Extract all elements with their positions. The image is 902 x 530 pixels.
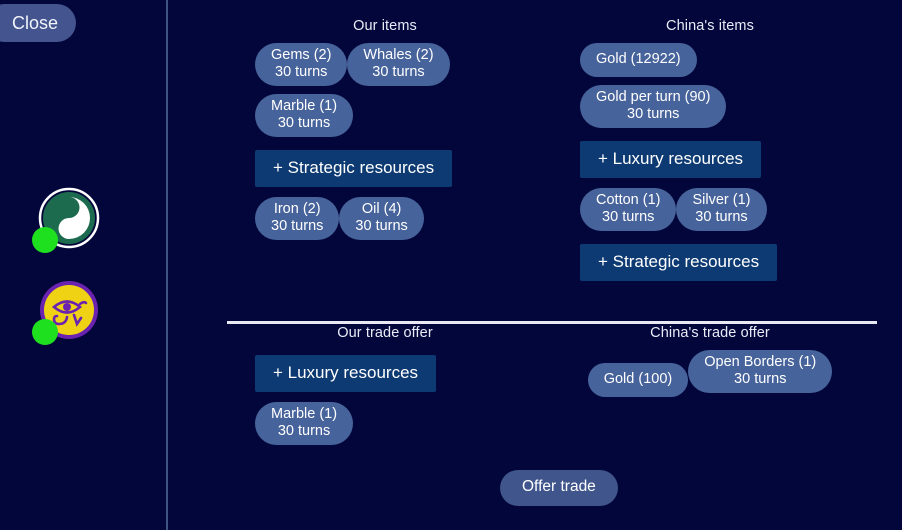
trade-item-label: Open Borders (1)	[704, 354, 816, 370]
trade-item-pill[interactable]: Oil (4)30 turns	[339, 197, 423, 240]
offer-trade-button[interactable]: Offer trade	[500, 470, 618, 506]
column-title: Our items	[353, 18, 417, 34]
trade-item-duration: 30 turns	[692, 209, 750, 226]
trade-item-duration: 30 turns	[596, 106, 710, 123]
trade-item-label: Silver (1)	[692, 192, 750, 208]
trade-item-label: Whales (2)	[363, 47, 433, 63]
trade-item-pill[interactable]: Marble (1)30 turns	[255, 94, 353, 137]
column-entries: Gems (2)30 turnsWhales (2)30 turnsMarble…	[255, 43, 515, 248]
category-button[interactable]: + Luxury resources	[580, 141, 761, 178]
trade-item-label: Gold (100)	[604, 371, 673, 387]
trade-item-label: Marble (1)	[271, 98, 337, 114]
trade-item-pill[interactable]: Gems (2)30 turns	[255, 43, 347, 86]
column-title: China's trade offer	[650, 325, 770, 341]
column-our-items: Our items Gems (2)30 turnsWhales (2)30 t…	[255, 18, 515, 248]
trade-item-pill[interactable]: Iron (2)30 turns	[255, 197, 339, 240]
civ-portrait-egypt[interactable]	[38, 279, 100, 341]
column-our-trade-offer: Our trade offer + Luxury resourcesMarble…	[255, 325, 515, 453]
trade-item-duration: 30 turns	[271, 64, 331, 81]
trade-item-label: Gold per turn (90)	[596, 89, 710, 105]
civ-portrait-china[interactable]	[38, 187, 100, 249]
column-their-trade-offer: China's trade offer Gold (100)Open Borde…	[580, 325, 840, 405]
status-dot-online	[32, 227, 58, 253]
status-dot-online	[32, 319, 58, 345]
trade-main-panel: Our items Gems (2)30 turnsWhales (2)30 t…	[168, 0, 902, 530]
left-sidebar: Close	[0, 0, 167, 530]
column-entries: + Luxury resourcesMarble (1)30 turns	[255, 350, 515, 453]
trade-item-label: Iron (2)	[274, 201, 321, 217]
trade-item-pill[interactable]: Open Borders (1)30 turns	[688, 350, 832, 393]
column-title: Our trade offer	[337, 325, 433, 341]
trade-item-duration: 30 turns	[355, 218, 407, 235]
trade-item-pill[interactable]: Gold (12922)	[580, 43, 697, 77]
column-entries: Gold (12922)Gold per turn (90)30 turns+ …	[580, 43, 840, 291]
section-divider	[227, 321, 877, 324]
trade-item-duration: 30 turns	[271, 218, 323, 235]
trade-item-duration: 30 turns	[271, 115, 337, 132]
column-their-items: China's items Gold (12922)Gold per turn …	[580, 18, 840, 291]
close-button[interactable]: Close	[0, 4, 76, 42]
category-button[interactable]: + Luxury resources	[255, 355, 436, 392]
trade-item-pill[interactable]: Gold (100)	[588, 363, 689, 397]
category-button[interactable]: + Strategic resources	[255, 150, 452, 187]
trade-item-label: Oil (4)	[362, 201, 401, 217]
trade-item-pill[interactable]: Marble (1)30 turns	[255, 402, 353, 445]
trade-item-label: Gold (12922)	[596, 51, 681, 67]
trade-item-label: Cotton (1)	[596, 192, 660, 208]
trade-item-duration: 30 turns	[704, 371, 816, 388]
trade-item-duration: 30 turns	[271, 423, 337, 440]
trade-item-label: Marble (1)	[271, 406, 337, 422]
column-entries: Gold (100)Open Borders (1)30 turns	[588, 350, 833, 405]
trade-screen: Close	[0, 0, 902, 530]
trade-item-label: Gems (2)	[271, 47, 331, 63]
column-title: China's items	[666, 18, 754, 34]
trade-item-pill[interactable]: Whales (2)30 turns	[347, 43, 449, 86]
trade-item-pill[interactable]: Cotton (1)30 turns	[580, 188, 676, 231]
trade-item-pill[interactable]: Silver (1)30 turns	[676, 188, 766, 231]
category-button[interactable]: + Strategic resources	[580, 244, 777, 281]
trade-item-duration: 30 turns	[363, 64, 433, 81]
trade-item-pill[interactable]: Gold per turn (90)30 turns	[580, 85, 726, 128]
trade-item-duration: 30 turns	[596, 209, 660, 226]
